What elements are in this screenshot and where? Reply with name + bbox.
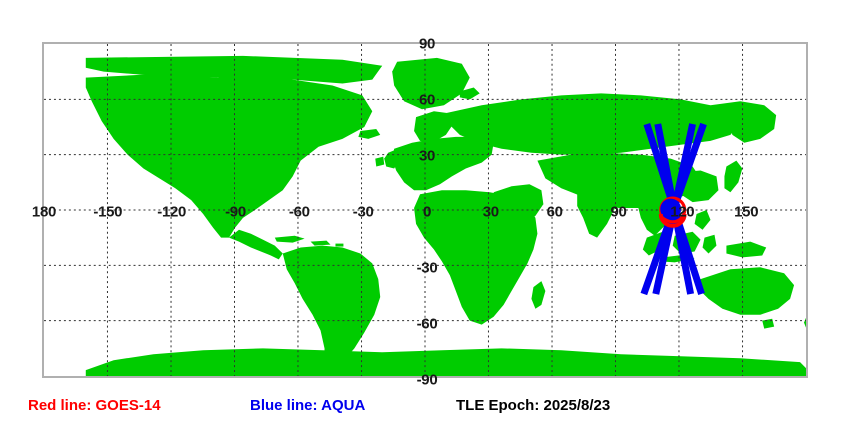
- lat-label--30: -30: [417, 260, 438, 277]
- lon-label-120: 120: [670, 204, 694, 221]
- lat-label-30: 30: [419, 148, 435, 165]
- lon-label--30: -30: [353, 204, 374, 221]
- lon-label--90: -90: [225, 204, 246, 221]
- lon-label--120: -120: [157, 204, 186, 221]
- lon-label--150: -150: [93, 204, 122, 221]
- satellite-ground-track-page: -150 -120 -90 -60 -30 0 30 60 90 120 150…: [0, 0, 850, 425]
- lat-label-60: 60: [419, 92, 435, 109]
- lon-label-180: 180: [32, 204, 56, 221]
- world-map-panel: -150 -120 -90 -60 -30 0 30 60 90 120 150…: [42, 42, 808, 378]
- land-puerto-rico: [335, 244, 343, 247]
- lat-label--90: -90: [417, 372, 438, 389]
- legend-tle-epoch: TLE Epoch: 2025/8/23: [456, 397, 610, 414]
- lon-label-30: 30: [483, 204, 499, 221]
- lon-label-60: 60: [547, 204, 563, 221]
- lon-label-150: 150: [734, 204, 758, 221]
- lat-label-90: 90: [419, 36, 435, 53]
- legend-aqua: Blue line: AQUA: [250, 397, 365, 414]
- lat-label-0: 0: [423, 204, 431, 221]
- legend-goes14: Red line: GOES-14: [28, 397, 161, 414]
- lon-label--60: -60: [289, 204, 310, 221]
- lon-label-90: 90: [610, 204, 626, 221]
- legend-bar: Red line: GOES-14 Blue line: AQUA TLE Ep…: [0, 392, 850, 425]
- lat-label--60: -60: [417, 316, 438, 333]
